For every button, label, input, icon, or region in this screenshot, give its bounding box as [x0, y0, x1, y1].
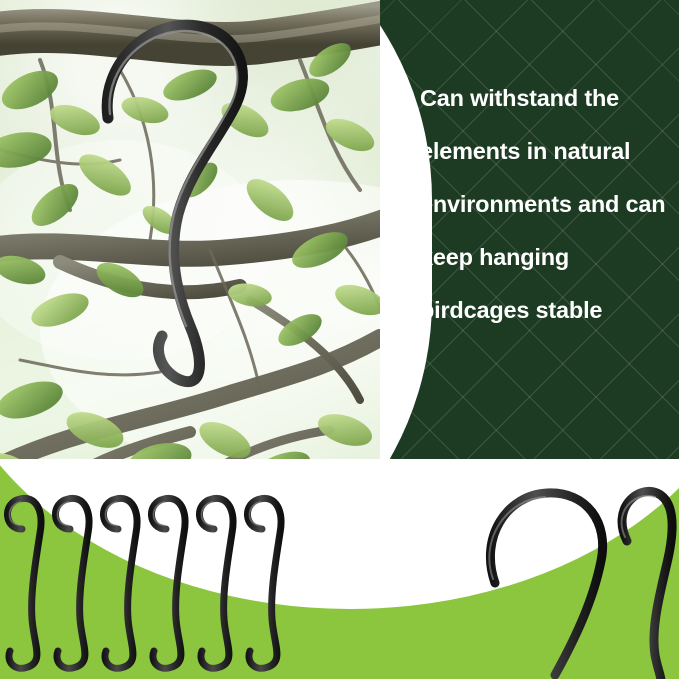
s-hook — [7, 498, 41, 668]
feature-headline: Can withstand the elements in natural en… — [420, 72, 670, 337]
s-hook-large — [490, 493, 602, 675]
s-hook — [199, 498, 233, 668]
s-hook — [247, 498, 281, 668]
s-hook — [103, 498, 137, 668]
s-hook-group-right — [379, 479, 679, 679]
s-hook-group-left — [0, 489, 330, 679]
s-hook-tall — [622, 491, 672, 679]
feature-text-panel: Can withstand the elements in natural en… — [380, 0, 679, 487]
product-image: Can withstand the elements in natural en… — [0, 0, 679, 679]
s-hook — [151, 498, 185, 668]
s-hook — [55, 498, 89, 668]
product-lineup-band — [0, 459, 679, 679]
